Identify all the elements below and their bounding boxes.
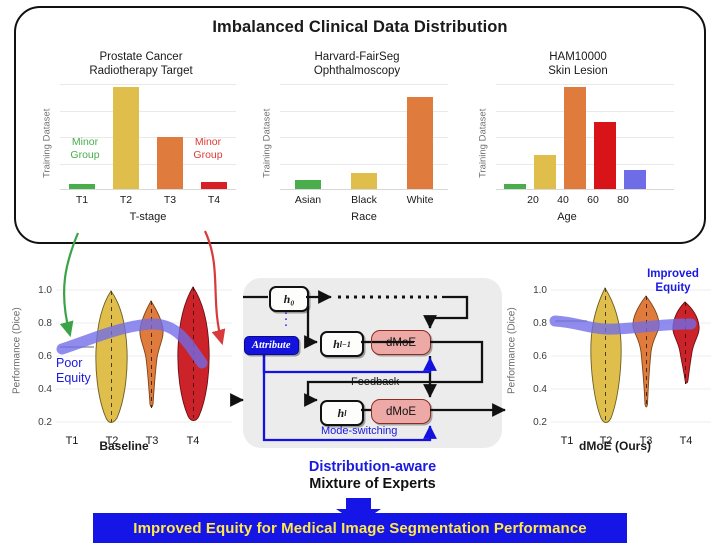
- vertical-dots-icon: ···: [283, 310, 289, 328]
- bar-age-40: [564, 87, 586, 189]
- bar-asian: [295, 180, 321, 189]
- chart-prostate-cancer: Prostate Cancer Radiotherapy Target Trai…: [42, 50, 240, 240]
- improved-equity-annotation: Improved Equity: [633, 268, 713, 295]
- chart-title: HAM10000 Skin Lesion: [478, 50, 678, 78]
- y-axis-label: Training Dataset: [40, 84, 54, 202]
- x-tick-labels: 20 40 60 80: [496, 194, 674, 206]
- poor-equity-annotation: Poor Equity: [56, 356, 91, 386]
- conclusion-banner: Improved Equity for Medical Image Segmen…: [93, 513, 627, 543]
- bar-t3: [157, 137, 183, 190]
- bar-age-80: [624, 170, 646, 189]
- bar-t1: [69, 184, 95, 189]
- bar-age-20: [534, 155, 556, 189]
- mode-switching-label: Mode-switching: [321, 425, 397, 437]
- svg-text:0.6: 0.6: [533, 351, 547, 362]
- violin-plot-dmoe: Performance (Dice) 1.00.8 0.60.4 0.2 T1T…: [505, 272, 715, 457]
- bar-black: [351, 173, 377, 189]
- bar-t2: [113, 87, 139, 189]
- node-h-l-minus-1: hl−1: [320, 331, 364, 357]
- bar-group: [496, 84, 674, 189]
- node-h0: h₀: [269, 286, 309, 312]
- x-axis-label: T-stage: [60, 211, 236, 223]
- svg-text:0.8: 0.8: [533, 318, 547, 329]
- x-axis-label: Age: [496, 211, 638, 223]
- plot-grid: [496, 84, 674, 190]
- bar-white: [407, 97, 433, 189]
- chart-ham10000: HAM10000 Skin Lesion Training Dataset: [478, 50, 678, 240]
- y-axis-label: Training Dataset: [260, 84, 274, 202]
- svg-text:0.2: 0.2: [38, 417, 52, 428]
- violin-plot-baseline: Performance (Dice) 1.00.8 0.60.4 0.2: [10, 272, 238, 457]
- dmoe-block-lower: dMoE: [371, 399, 431, 424]
- svg-text:0.2: 0.2: [533, 417, 547, 428]
- chart-harvard-fairseg: Harvard-FairSeg Ophthalmoscopy Training …: [262, 50, 452, 240]
- imbalanced-data-panel: Imbalanced Clinical Data Distribution Pr…: [14, 6, 706, 244]
- bar-t4: [201, 182, 227, 189]
- svg-text:0.4: 0.4: [533, 384, 547, 395]
- chart-title: Harvard-FairSeg Ophthalmoscopy: [262, 50, 452, 78]
- svg-text:0.6: 0.6: [38, 351, 52, 362]
- plot-grid: [280, 84, 448, 190]
- feedback-label: Feedback: [351, 376, 399, 388]
- bar-group: [280, 84, 448, 189]
- attribute-box[interactable]: Attribute: [244, 336, 299, 355]
- svg-text:1.0: 1.0: [533, 285, 547, 296]
- y-axis-label: Training Dataset: [476, 84, 490, 202]
- x-tick-labels: T1 T2 T3 T4: [60, 194, 236, 206]
- method-name: Distribution-aware Mixture of Experts: [243, 459, 502, 493]
- y-axis-label: Performance (Dice): [505, 276, 519, 426]
- bar-age-60: [594, 122, 616, 189]
- dmoe-architecture-diagram: h₀ hl−1 hl dMoE dMoE Feedback Mode-switc…: [243, 278, 502, 448]
- node-h-l: hl: [320, 400, 364, 426]
- chart-title: Prostate Cancer Radiotherapy Target: [42, 50, 240, 78]
- svg-text:1.0: 1.0: [38, 285, 52, 296]
- page-title: Imbalanced Clinical Data Distribution: [16, 18, 704, 37]
- baseline-violin-svg: 1.00.8 0.60.4 0.2 T1T2 T3T4: [10, 272, 238, 457]
- minor-group-annotation-t1: Minor Group: [62, 136, 108, 161]
- banner-text: Improved Equity for Medical Image Segmen…: [133, 520, 586, 537]
- dmoe-block-upper: dMoE: [371, 330, 431, 355]
- bar-age-0: [504, 184, 526, 189]
- dmoe-violin-svg: 1.00.8 0.60.4 0.2 T1T2 T3T4: [505, 272, 715, 457]
- plot-caption: dMoE (Ours): [525, 439, 705, 453]
- x-axis-label: Race: [280, 211, 448, 223]
- x-tick-labels: Asian Black White: [280, 194, 448, 206]
- svg-text:0.8: 0.8: [38, 318, 52, 329]
- minor-group-annotation-t4: Minor Group: [185, 136, 231, 161]
- y-axis-label: Performance (Dice): [10, 276, 24, 426]
- plot-caption: Baseline: [10, 439, 238, 453]
- svg-text:0.4: 0.4: [38, 384, 52, 395]
